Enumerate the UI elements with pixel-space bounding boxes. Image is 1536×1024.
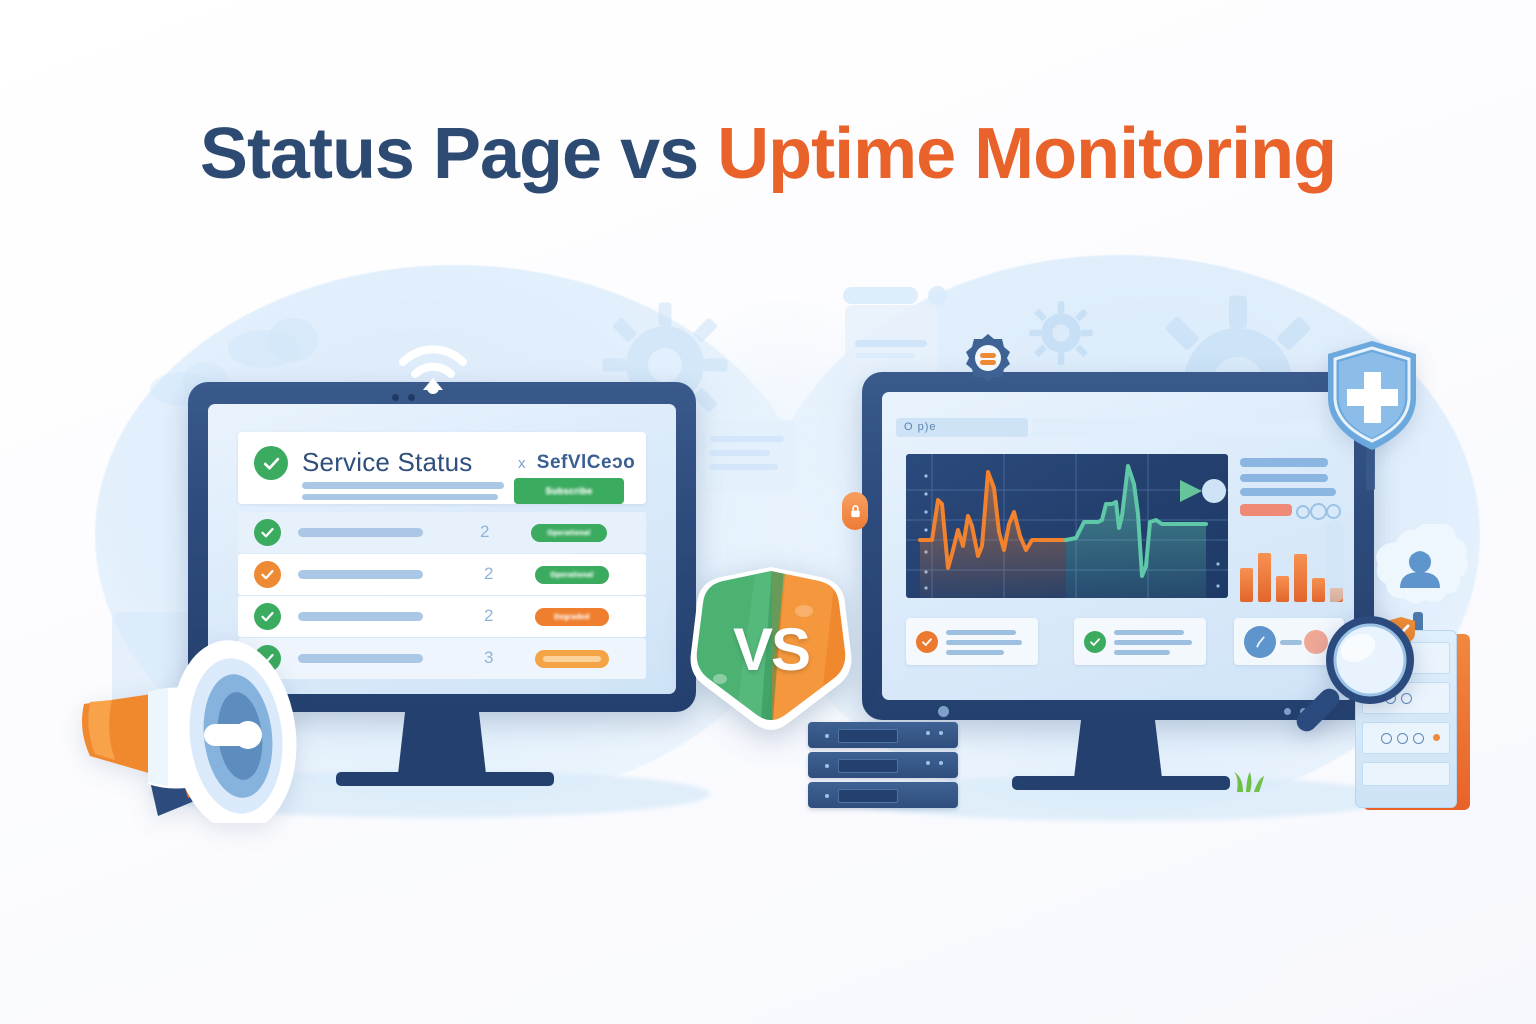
subscribe-button-label: Subscribe bbox=[545, 486, 592, 496]
right-monitor-neck bbox=[1074, 720, 1162, 778]
status-card-line bbox=[946, 650, 1004, 655]
dashboard-topbar-label: O p)e bbox=[904, 421, 937, 433]
server-led bbox=[825, 734, 829, 738]
cloud-user-icon bbox=[1372, 524, 1468, 619]
service-row-check-icon bbox=[254, 603, 281, 630]
side-ring-3 bbox=[1326, 504, 1341, 519]
side-line-2 bbox=[1240, 474, 1328, 482]
bg-document-2 bbox=[700, 420, 796, 492]
service-row-badge bbox=[535, 650, 609, 668]
server-slot bbox=[838, 759, 898, 773]
bg-cloud-2 bbox=[268, 318, 318, 362]
header-skeleton-line-1 bbox=[302, 482, 504, 489]
service-logo-mark: x bbox=[518, 455, 526, 472]
bg-document-line-1 bbox=[855, 340, 927, 347]
service-row-count: 2 bbox=[484, 564, 493, 584]
right-monitor-led-1 bbox=[938, 706, 949, 717]
megaphone-icon bbox=[62, 628, 317, 823]
bg-document-line-3 bbox=[710, 436, 784, 442]
bg-document-line-2 bbox=[855, 353, 915, 358]
status-card-line bbox=[946, 630, 1016, 635]
header-skeleton-line-2 bbox=[302, 494, 498, 500]
vs-badge: VS bbox=[686, 567, 856, 732]
server-slot bbox=[838, 789, 898, 803]
uptime-chart-svg bbox=[906, 454, 1228, 598]
service-row-badge-label: Degraded bbox=[554, 614, 590, 621]
page-title: Status Page vs Uptime Monitoring bbox=[0, 118, 1536, 190]
bar bbox=[1258, 553, 1271, 602]
status-card-line bbox=[1114, 640, 1192, 645]
service-row-badge: Operational bbox=[535, 566, 609, 584]
rack-unit bbox=[1362, 762, 1450, 786]
server-led bbox=[926, 731, 930, 735]
service-row-badge: Degraded bbox=[535, 608, 609, 626]
bg-pill-top bbox=[843, 287, 918, 304]
shield-stem bbox=[1366, 448, 1375, 490]
side-ring-1 bbox=[1296, 505, 1310, 519]
side-ring-2 bbox=[1310, 503, 1327, 520]
gear-badge-icon bbox=[962, 332, 1014, 384]
service-status-title: Service Status bbox=[302, 447, 472, 478]
bg-document-line-4 bbox=[710, 450, 770, 456]
service-row-check-icon bbox=[254, 519, 281, 546]
bar bbox=[1276, 576, 1289, 602]
subscribe-button[interactable]: Subscribe bbox=[514, 478, 624, 504]
left-monitor-neck bbox=[398, 712, 486, 774]
status-card-check-icon bbox=[916, 631, 938, 653]
wifi-icon bbox=[396, 338, 470, 396]
service-row-name bbox=[298, 612, 423, 621]
service-row-count: 3 bbox=[484, 648, 493, 668]
service-row-badge-label: Operational bbox=[547, 530, 590, 537]
side-line-3 bbox=[1240, 488, 1336, 496]
status-card-check-icon bbox=[1084, 631, 1106, 653]
right-monitor-base bbox=[1012, 776, 1230, 790]
bar bbox=[1240, 568, 1253, 602]
status-card-line bbox=[1114, 650, 1170, 655]
grass-tuft-right bbox=[1232, 768, 1264, 792]
service-logo-text: SefVlCeɔo bbox=[537, 452, 635, 473]
service-row-badge-inner bbox=[543, 656, 601, 662]
service-row-name bbox=[298, 528, 423, 537]
bg-dot-top bbox=[928, 286, 947, 305]
gauge-icon bbox=[1244, 626, 1276, 658]
service-row-count: 2 bbox=[484, 606, 493, 626]
service-row-check-icon bbox=[254, 561, 281, 588]
side-alert-bar bbox=[1240, 504, 1292, 516]
dashboard-topbar-ghost bbox=[1032, 418, 1322, 437]
server-stack-icon bbox=[808, 722, 968, 812]
service-row-badge: Operational bbox=[531, 524, 607, 542]
bg-gear-small bbox=[1028, 300, 1094, 366]
uptime-chart bbox=[906, 454, 1228, 598]
server-led bbox=[825, 794, 829, 798]
page-title-part-b: Uptime Monitoring bbox=[717, 114, 1336, 194]
bar bbox=[1312, 578, 1325, 602]
service-row-count: 2 bbox=[480, 522, 489, 542]
rack-status-led bbox=[1433, 734, 1440, 741]
status-card-line bbox=[946, 640, 1022, 645]
server-led bbox=[939, 731, 943, 735]
service-logo: x SefVlCeɔo bbox=[518, 452, 635, 474]
page-title-part-a: Status Page vs bbox=[200, 114, 717, 194]
server-led bbox=[939, 761, 943, 765]
vs-badge-label: VS bbox=[686, 567, 856, 732]
bar-chart-ghost-column bbox=[1326, 520, 1344, 602]
service-row-name bbox=[298, 570, 423, 579]
left-monitor-base bbox=[336, 772, 554, 786]
bar bbox=[1294, 554, 1307, 602]
status-card-line bbox=[1114, 630, 1184, 635]
illustration-canvas: Service Status x SefVlCeɔo Subscribe 2 O… bbox=[0, 0, 1536, 1024]
lock-badge-icon bbox=[842, 492, 868, 530]
side-line-1 bbox=[1240, 458, 1328, 467]
shield-health-icon bbox=[1320, 338, 1425, 453]
magnifier-icon bbox=[1288, 608, 1423, 743]
service-row-badge-label: Operational bbox=[550, 572, 593, 579]
bg-document-line-5 bbox=[710, 464, 778, 470]
server-led bbox=[926, 761, 930, 765]
server-led bbox=[825, 764, 829, 768]
header-status-check-icon bbox=[254, 446, 288, 480]
right-monitor-screen: O p)e bbox=[882, 392, 1354, 700]
